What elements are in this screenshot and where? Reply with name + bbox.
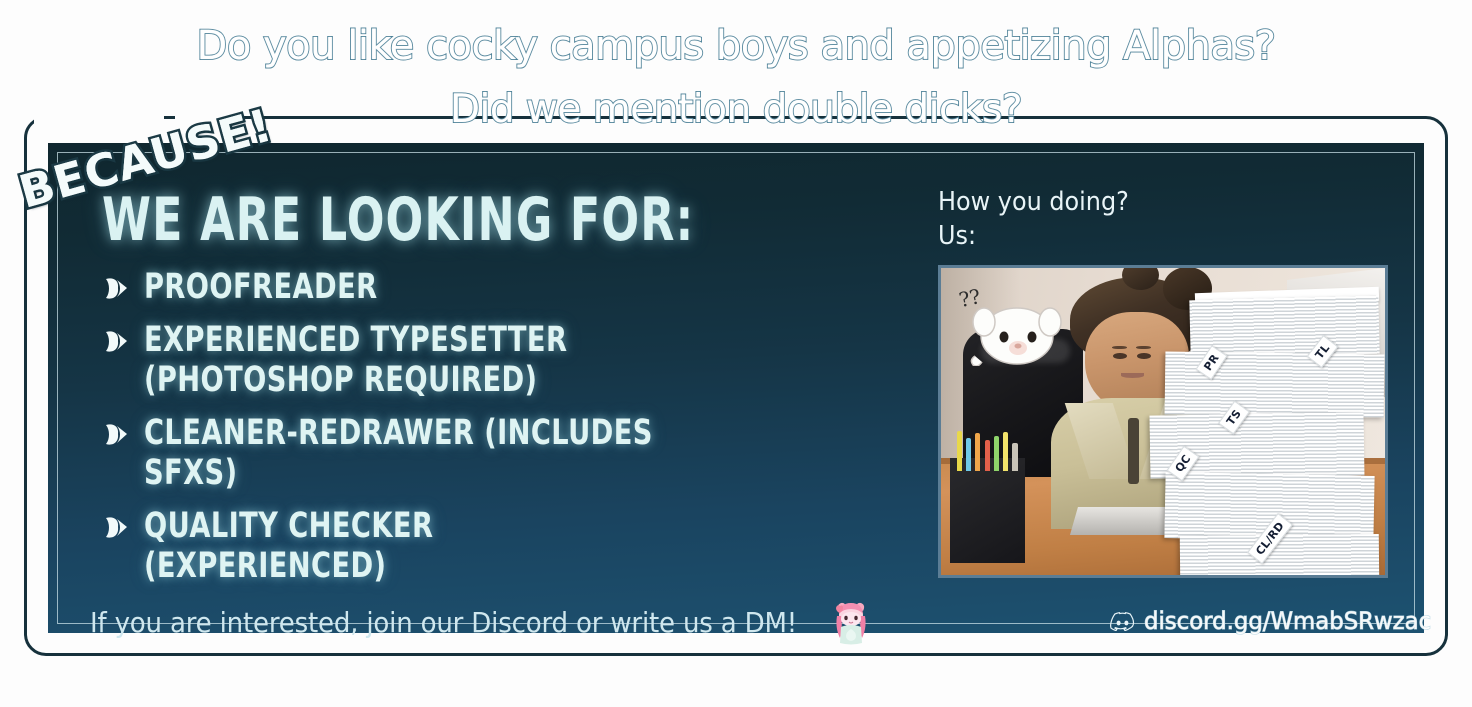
chevron-bullet-icon [104,276,130,301]
left-column: WE ARE LOOKING FOR: PROOFREADER [74,187,894,645]
frame-break-left [34,108,164,124]
chevron-bullet-icon [104,422,130,447]
discord-invite-row[interactable]: discord.gg/WmabSRwzac [1109,607,1446,635]
discord-logo-icon [1109,611,1135,631]
role-label: PROOFREADER [144,267,378,307]
role-list: PROOFREADER EXPERIENCED TYPESETTER (PHOT… [104,267,894,586]
eyebrow-left [1112,346,1127,350]
role-label: EXPERIENCED TYPESETTER (PHOTOSHOP REQUIR… [144,320,567,400]
poster-root: Do you like cocky campus boys and appeti… [0,0,1472,707]
right-column: How you doing? Us: ?? [938,185,1400,578]
headline-line-1: Do you like cocky campus boys and appeti… [0,14,1472,78]
meme-image: ?? [938,265,1388,578]
role-label: CLEANER-REDRAWER (INCLUDES SFXS) [144,413,729,493]
chevron-bullet-icon [104,329,130,354]
list-item: CLEANER-REDRAWER (INCLUDES SFXS) [104,413,894,493]
mouth [1121,373,1144,378]
call-to-action: If you are interested, join our Discord … [90,600,894,645]
meme-answer: Us: [938,219,1363,253]
paper-stack: PR TL TS QC CL/RD [1145,293,1388,578]
list-item: PROOFREADER [104,267,894,307]
chibi-pink-girl-sticker [832,600,870,645]
role-label: QUALITY CHECKER (EXPERIENCED) [144,506,433,586]
list-item: QUALITY CHECKER (EXPERIENCED) [104,506,894,586]
meme-question: How you doing? [938,185,1363,219]
eye-left [1113,353,1127,359]
white-dog-icon [970,302,1063,363]
discord-invite-link[interactable]: discord.gg/WmabSRwzac [1144,607,1431,635]
question-marks: ?? [956,284,982,312]
list-item: EXPERIENCED TYPESETTER (PHOTOSHOP REQUIR… [104,320,894,400]
pencil-cup [950,458,1025,562]
necktie [1128,418,1139,483]
pencils [957,431,1024,471]
cta-label: If you are interested, join our Discord … [90,606,797,639]
page-title: WE ARE LOOKING FOR: [102,187,688,253]
paper-block [1165,352,1385,419]
meme-scene: ?? [941,268,1385,575]
chevron-bullet-icon [104,515,130,540]
